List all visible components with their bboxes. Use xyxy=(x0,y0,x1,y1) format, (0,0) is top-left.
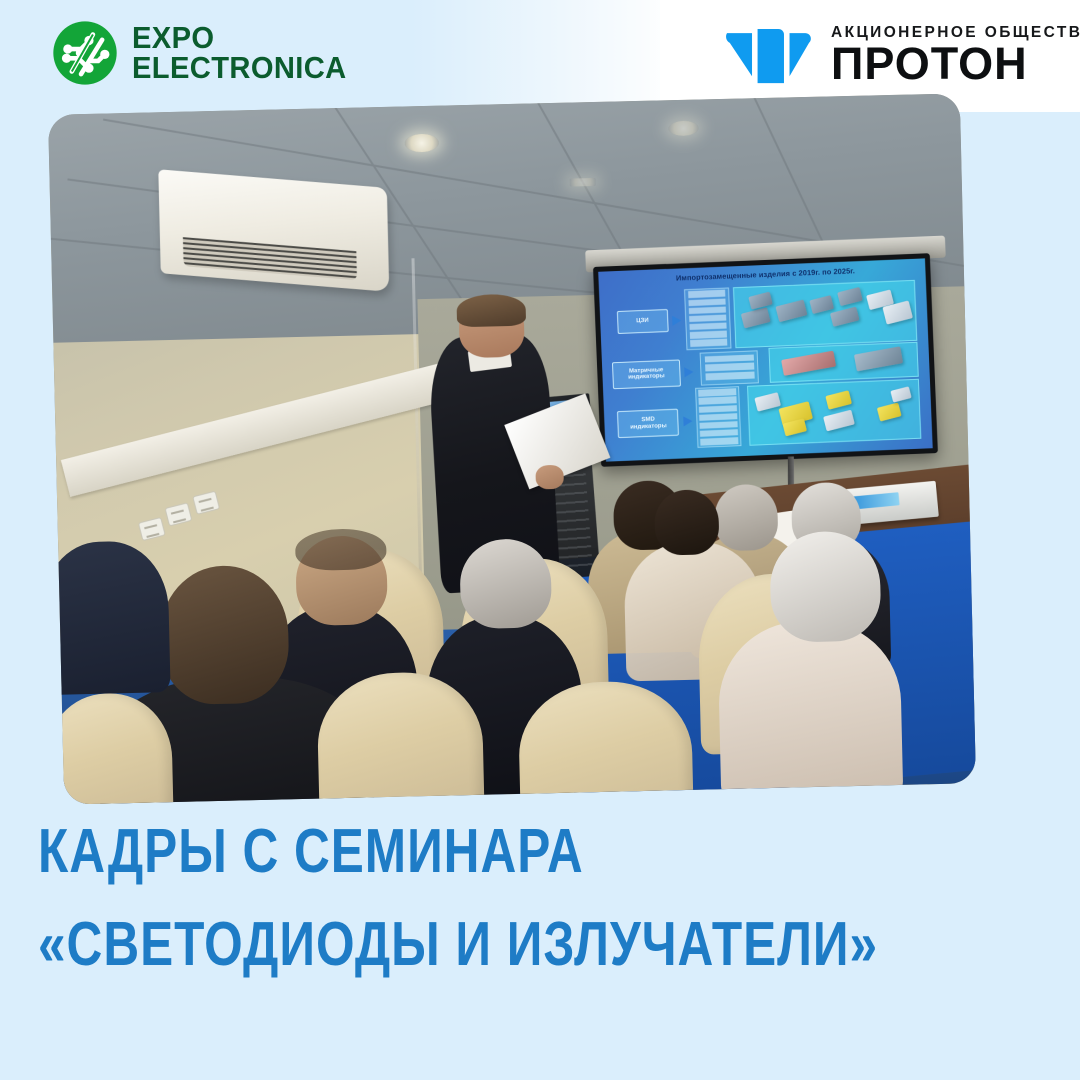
speaker-hand xyxy=(535,465,564,489)
poster-title: КАДРЫ С СЕМИНАРА «СВЕТОДИОДЫ И ИЗЛУЧАТЕЛ… xyxy=(38,812,1038,985)
attendee-head-back-2 xyxy=(714,484,779,551)
expo-line-1: EXPO xyxy=(132,23,347,53)
poster-title-line-1: КАДРЫ С СЕМИНАРА xyxy=(38,812,838,891)
air-conditioner xyxy=(159,169,390,291)
slide-row-label-matrix-line2: индикаторы xyxy=(628,374,665,382)
chip-3 xyxy=(775,300,807,323)
projector-screen: Импортозамещенные изделия с 2019г. по 20… xyxy=(593,253,938,467)
chip-smd-5 xyxy=(823,410,855,432)
attendee-head-patterned xyxy=(654,489,719,556)
ceiling-vent xyxy=(569,178,595,187)
proton-wordmark: АКЦИОНЕРНОЕ ОБЩЕСТВО ПРОТОН xyxy=(831,24,1080,86)
proton-name: ПРОТОН xyxy=(831,43,1028,86)
expo-line-2: ELECTRONICA xyxy=(132,53,347,83)
chip-smd-6 xyxy=(877,403,902,422)
slide-image-band-3 xyxy=(747,378,921,446)
slide-image-band-2 xyxy=(768,342,918,382)
presentation-slide: Импортозамещенные изделия с 2019г. по 20… xyxy=(598,258,932,461)
attendee-hair-mid-bald xyxy=(295,528,387,572)
slide-row-label-smd: SMD индикаторы xyxy=(617,409,679,438)
slide-list-1 xyxy=(684,287,731,350)
expo-electronica-wordmark: EXPO ELECTRONICA xyxy=(132,23,360,84)
ceiling-downlight-1 xyxy=(404,133,438,152)
chip-2 xyxy=(748,292,772,310)
chip-smd-1 xyxy=(754,392,781,412)
attendee-shoulders-navy xyxy=(48,540,171,695)
chip-smd-7 xyxy=(890,386,911,402)
chip-5 xyxy=(829,307,859,327)
air-conditioner-vent xyxy=(183,237,357,280)
chip-matrix-1 xyxy=(780,350,835,375)
chip-6 xyxy=(837,287,863,306)
poster-canvas: EXPO ELECTRONICA АКЦИОНЕРНОЕ ОБЩЕСТВО ПР… xyxy=(0,0,1080,1080)
chip-4 xyxy=(809,295,833,314)
chip-smd-4 xyxy=(825,391,852,411)
poster-title-line-2: «СВЕТОДИОДЫ И ИЗЛУЧАТЕЛИ» xyxy=(38,905,838,984)
expo-electronica-logo: EXPO ELECTRONICA xyxy=(52,20,360,86)
slide-row-label-czi: ЦЗИ xyxy=(616,309,668,334)
slide-image-band-1 xyxy=(733,280,917,348)
proton-trident-mark xyxy=(722,22,814,88)
slide-arrow-1 xyxy=(672,316,681,326)
speaker-hair xyxy=(456,294,526,327)
slide-list-2 xyxy=(700,351,759,386)
slide-row-label-smd-line2: индикаторы xyxy=(630,423,667,431)
proton-logo: АКЦИОНЕРНОЕ ОБЩЕСТВО ПРОТОН xyxy=(722,22,1080,88)
slide-row-label-czi-line1: ЦЗИ xyxy=(636,318,649,325)
chip-matrix-2 xyxy=(854,347,903,372)
expo-electronica-circuit-mark xyxy=(52,20,118,86)
attendee-shoulders-right-grey xyxy=(717,619,904,803)
slide-list-3 xyxy=(695,386,742,449)
seminar-audience-photo: Импортозамещенные изделия с 2019г. по 20… xyxy=(48,93,976,804)
chip-1 xyxy=(741,308,771,330)
slide-row-label-matrix: Матричные индикаторы xyxy=(612,360,680,389)
slide-arrow-3 xyxy=(683,416,692,426)
seminar-photo-container: Импортозамещенные изделия с 2019г. по 20… xyxy=(56,104,986,804)
slide-arrow-2 xyxy=(684,367,693,377)
